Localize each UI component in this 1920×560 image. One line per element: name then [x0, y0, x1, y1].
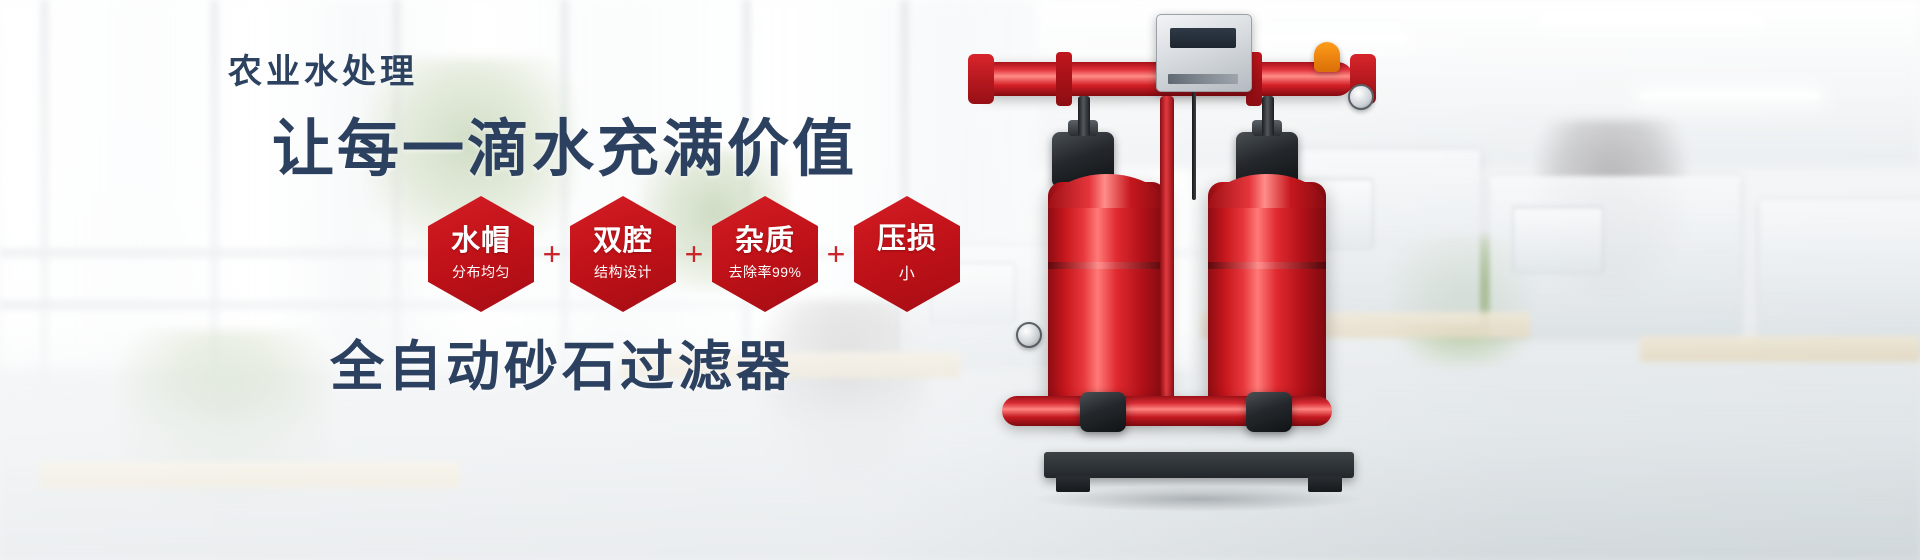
- badge-title: 压损: [877, 224, 937, 254]
- plus-separator-icon: +: [534, 238, 570, 270]
- filter-tank-right: [1208, 182, 1326, 412]
- base-foot: [1056, 476, 1090, 492]
- badge-subtitle: 小: [899, 260, 916, 284]
- plus-separator-icon: +: [818, 238, 854, 270]
- banner-content: 农业水处理 让每一滴水充满价值 水帽 分布均匀 + 双腔 结构设计 + 杂质 去…: [0, 0, 1920, 560]
- pressure-gauge-icon: [1016, 322, 1042, 348]
- badge-subtitle: 分布均匀: [452, 262, 510, 282]
- plus-separator-icon: +: [676, 238, 712, 270]
- control-unit-label: [1168, 74, 1238, 84]
- badge-subtitle: 去除率99%: [728, 262, 801, 282]
- tank-band: [1208, 262, 1326, 269]
- promo-banner: 农业水处理 让每一滴水充满价值 水帽 分布均匀 + 双腔 结构设计 + 杂质 去…: [0, 0, 1920, 560]
- banner-headline: 让每一滴水充满价值: [272, 98, 857, 188]
- pressure-gauge-icon: [1348, 84, 1374, 110]
- feature-badge-impurity: 杂质 去除率99%: [712, 196, 818, 312]
- equipment-base-skid: [1044, 452, 1354, 478]
- feature-badge-pressure-loss: 压损 小: [854, 196, 960, 312]
- feature-badge-water-cap: 水帽 分布均匀: [428, 196, 534, 312]
- feature-badge-dual-chamber: 双腔 结构设计: [570, 196, 676, 312]
- badge-title: 水帽: [451, 226, 511, 256]
- banner-subheadline: 全自动砂石过滤器: [330, 322, 794, 401]
- base-foot: [1308, 476, 1342, 492]
- air-release-valve: [1314, 42, 1340, 72]
- badge-title: 双腔: [593, 226, 653, 256]
- product-image-sand-filter: [960, 0, 1490, 560]
- control-cable: [1192, 92, 1196, 200]
- drain-valve: [1246, 392, 1292, 432]
- control-unit-screen: [1170, 28, 1236, 48]
- banner-eyebrow: 农业水处理: [228, 44, 418, 93]
- filter-tank-left: [1048, 182, 1166, 412]
- feature-badge-row: 水帽 分布均匀 + 双腔 结构设计 + 杂质 去除率99% + 压损 小: [428, 196, 960, 312]
- pipe-flange: [1056, 52, 1072, 106]
- connecting-pipe: [1078, 96, 1090, 136]
- vertical-riser-pipe: [1160, 96, 1174, 416]
- filter-tank-dome: [1208, 174, 1326, 208]
- drain-valve: [1080, 392, 1126, 432]
- tank-band: [1048, 262, 1166, 269]
- badge-title: 杂质: [735, 226, 795, 256]
- badge-subtitle: 结构设计: [594, 262, 652, 282]
- connecting-pipe: [1262, 96, 1274, 136]
- manifold-inlet-bell: [968, 54, 994, 104]
